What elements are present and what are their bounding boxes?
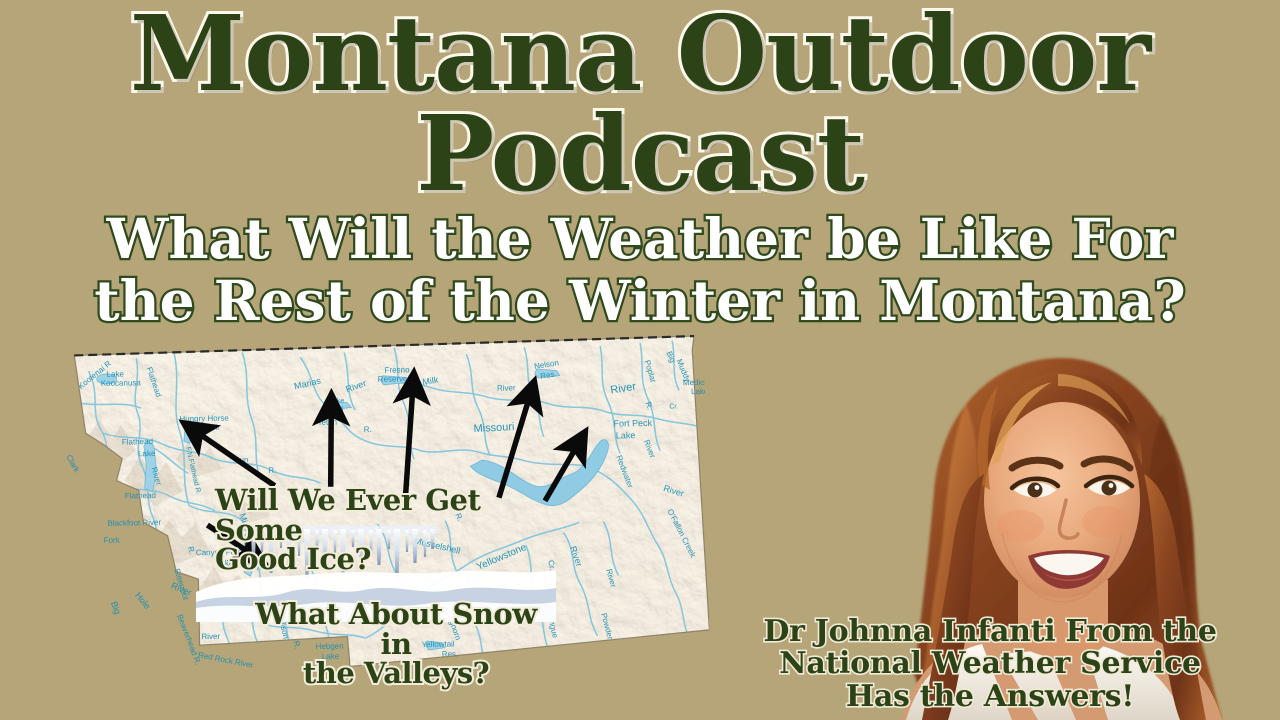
credit-line-2: National Weather Service xyxy=(700,648,1280,680)
arrow-hungry-horse xyxy=(196,430,275,487)
callout-ice: Will We Ever Get Some Good Ice? xyxy=(215,486,555,575)
title-line-1: Montana Outdoor xyxy=(0,4,1280,104)
credit-line-3: Has the Answers! xyxy=(700,681,1280,713)
episode-subtitle: What Will the Weather be Like For the Re… xyxy=(0,208,1280,331)
credit-line-1: Dr Johnna Infanti From the xyxy=(700,616,1280,648)
callout-snow-line-2: the Valleys? xyxy=(246,659,546,689)
callout-snow-line-1: What About Snow in xyxy=(246,600,546,659)
podcast-cover-canvas: Montana Outdoor Podcast What Will the We… xyxy=(0,0,1280,720)
callout-snow: What About Snow in the Valleys? xyxy=(246,600,546,689)
montana-map: Kootenai RLakeKoocanusaFlatheadHungry Ho… xyxy=(44,342,704,690)
guest-credit: Dr Johnna Infanti From the National Weat… xyxy=(700,616,1280,713)
arrow-lake-elwell xyxy=(329,409,332,487)
callout-ice-line-2: Good Ice? xyxy=(215,545,555,575)
subtitle-line-2: the Rest of the Winter in Montana? xyxy=(0,270,1280,332)
subtitle-line-1: What Will the Weather be Like For xyxy=(0,208,1280,270)
title-line-2: Podcast xyxy=(0,104,1280,204)
page-title: Montana Outdoor Podcast xyxy=(0,4,1280,204)
arrow-nelson-res xyxy=(497,395,532,498)
callout-ice-line-1: Will We Ever Get Some xyxy=(215,486,555,545)
